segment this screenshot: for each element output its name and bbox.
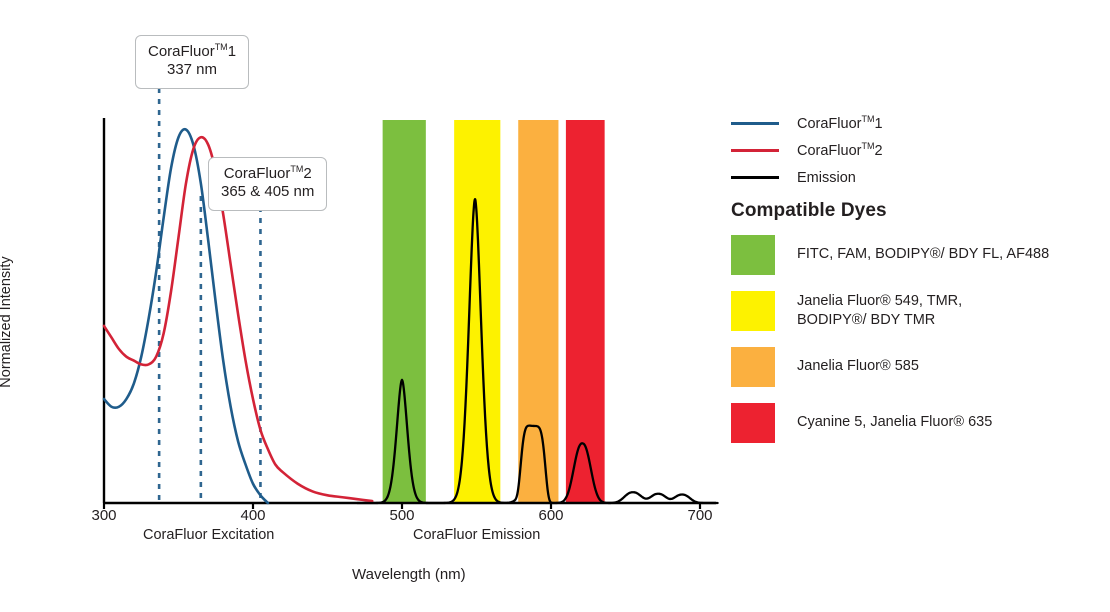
series-legend: CoraFluorTM1CoraFluorTM2Emission	[731, 110, 1091, 191]
x-tick-label-500: 500	[389, 507, 414, 524]
legend-line-swatch	[731, 122, 779, 125]
callout-corafluor-1: CoraFluorTM1 337 nm	[135, 35, 249, 89]
callout-cf2-line1: CoraFluorTM2	[221, 165, 314, 183]
trademark-icon: TM	[861, 141, 874, 151]
dye-list-item-2: Janelia Fluor® 585	[731, 347, 1101, 387]
callout-cf1-suffix: 1	[228, 43, 236, 60]
compatible-dyes-title: Compatible Dyes	[731, 200, 887, 222]
legend-line-swatch	[731, 149, 779, 152]
callout-cf1-name: CoraFluor	[148, 43, 215, 60]
excitation-region-label: CoraFluor Excitation	[143, 527, 274, 543]
callout-cf2-suffix: 2	[303, 165, 311, 182]
legend-item-label: CoraFluorTM2	[797, 143, 883, 159]
dye-color-swatch	[731, 403, 775, 443]
legend-item-label: Emission	[797, 170, 856, 186]
y-axis-title: Normalized Intensity	[0, 242, 14, 402]
dye-item-label: Janelia Fluor® 585	[797, 357, 919, 376]
dye-list-item-1: Janelia Fluor® 549, TMR,BODIPY®/ BDY TMR	[731, 291, 1101, 331]
x-axis-title: Wavelength (nm)	[352, 566, 466, 583]
dye-color-swatch	[731, 347, 775, 387]
dye-band-0	[383, 120, 426, 503]
x-tick-label-400: 400	[240, 507, 265, 524]
dye-list-item-0: FITC, FAM, BODIPY®/ BDY FL, AF488	[731, 235, 1101, 275]
trademark-icon: TM	[861, 114, 874, 124]
dye-item-label: FITC, FAM, BODIPY®/ BDY FL, AF488	[797, 245, 1049, 264]
x-tick-label-600: 600	[538, 507, 563, 524]
x-tick-label-300: 300	[91, 507, 116, 524]
legend-item-1: CoraFluorTM2	[731, 137, 1091, 164]
callout-cf2-line2: 365 & 405 nm	[221, 183, 314, 201]
dye-list-item-3: Cyanine 5, Janelia Fluor® 635	[731, 403, 1101, 443]
compatible-dyes-list: FITC, FAM, BODIPY®/ BDY FL, AF488Janelia…	[731, 235, 1101, 459]
emission-region-label: CoraFluor Emission	[413, 527, 540, 543]
callout-cf1-line2: 337 nm	[148, 61, 236, 79]
dye-band-2	[518, 120, 558, 503]
legend-item-label: CoraFluorTM1	[797, 116, 883, 132]
legend-line-swatch	[731, 176, 779, 179]
callout-cf2-name: CoraFluor	[224, 165, 291, 182]
callout-corafluor-2: CoraFluorTM2 365 & 405 nm	[208, 157, 327, 211]
dye-item-label: Janelia Fluor® 549, TMR,BODIPY®/ BDY TMR	[797, 292, 962, 330]
dye-color-swatch	[731, 291, 775, 331]
fluorescence-spectra-figure: CoraFluorTM1 337 nm CoraFluorTM2 365 & 4…	[0, 0, 1110, 612]
callout-cf1-line1: CoraFluorTM1	[148, 43, 236, 61]
dye-color-swatch	[731, 235, 775, 275]
x-tick-label-700: 700	[687, 507, 712, 524]
legend-item-2: Emission	[731, 164, 1091, 191]
trademark-icon: TM	[290, 164, 303, 174]
dye-item-label: Cyanine 5, Janelia Fluor® 635	[797, 413, 992, 432]
trademark-icon: TM	[215, 42, 228, 52]
legend-item-0: CoraFluorTM1	[731, 110, 1091, 137]
dye-band-1	[454, 120, 500, 503]
